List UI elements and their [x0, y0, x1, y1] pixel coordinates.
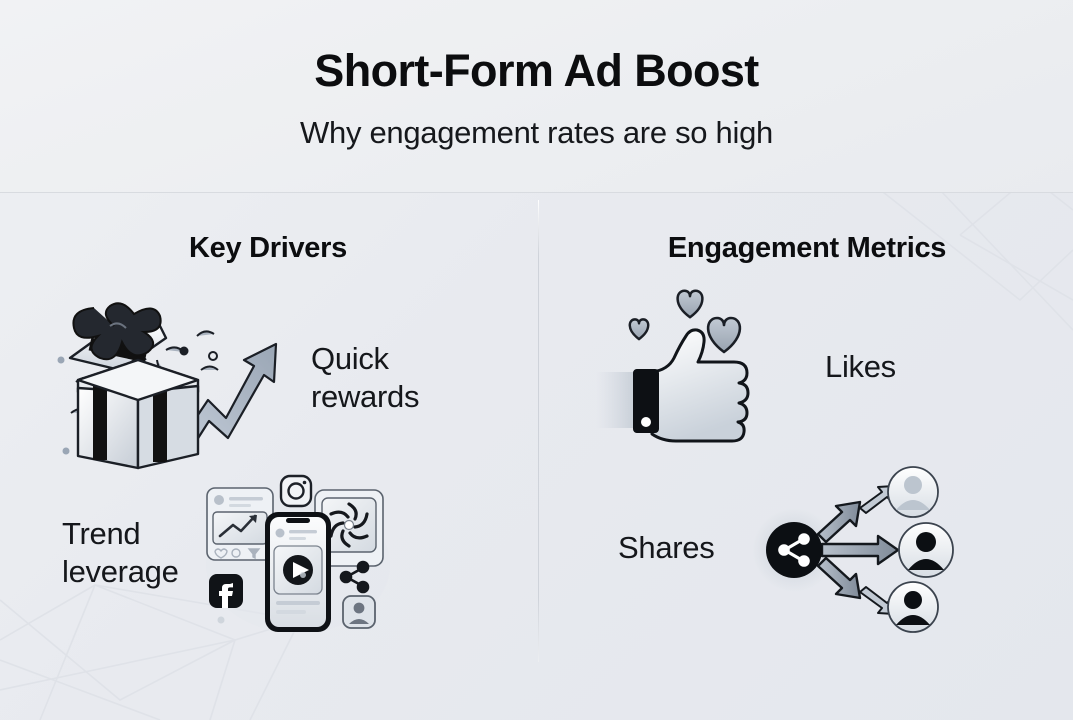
facebook-icon — [209, 574, 243, 608]
gift-box-growth-arrow-art — [48, 288, 293, 468]
header: Short-Form Ad Boost Why engagement rates… — [0, 0, 1073, 193]
smartphone-icon — [203, 470, 393, 635]
page-subtitle: Why engagement rates are so high — [300, 115, 773, 151]
instagram-icon — [281, 476, 311, 506]
social-card-left — [207, 488, 273, 560]
heart-icon-small — [630, 319, 648, 339]
row-trend-leverage: Trend leverage — [62, 470, 393, 635]
infographic-page: Short-Form Ad Boost Why engagement rates… — [0, 0, 1073, 720]
column-divider — [538, 200, 539, 662]
social-media-phone-cluster-art — [203, 470, 393, 635]
phone-front — [265, 512, 331, 632]
share-network-avatars-art — [752, 460, 962, 635]
thumbs-up-hearts-art — [598, 284, 783, 449]
row-likes: Likes — [598, 284, 896, 449]
arrow-icon-group — [818, 486, 898, 614]
content-body: Key Drivers — [0, 194, 1073, 720]
user-avatar-icon-top — [888, 467, 938, 517]
column-title-engagement-metrics: Engagement Metrics — [538, 232, 1073, 265]
page-title: Short-Form Ad Boost — [314, 48, 758, 93]
user-avatar-icon-bottom — [888, 582, 938, 632]
row-quick-rewards: Quick rewards — [48, 288, 419, 468]
thumbs-up-icon — [598, 284, 783, 449]
column-engagement-metrics: Engagement Metrics — [538, 194, 1073, 720]
column-title-key-drivers: Key Drivers — [0, 232, 537, 265]
ribbon-bow-icon — [70, 303, 166, 370]
gift-box-body — [78, 360, 198, 468]
row-shares: Shares — [618, 460, 962, 635]
user-avatar-icon — [343, 596, 375, 628]
heart-icon-large — [708, 318, 740, 352]
row-label-likes: Likes — [825, 348, 896, 386]
row-label-trend-leverage: Trend leverage — [62, 515, 179, 591]
gift-box-icon — [48, 288, 293, 468]
share-node-icon — [752, 460, 962, 635]
heart-icon-top — [678, 291, 703, 318]
user-avatar-icon-middle — [899, 523, 953, 577]
row-label-quick-rewards: Quick rewards — [311, 340, 419, 416]
column-key-drivers: Key Drivers — [0, 194, 538, 720]
row-label-shares: Shares — [618, 529, 714, 567]
